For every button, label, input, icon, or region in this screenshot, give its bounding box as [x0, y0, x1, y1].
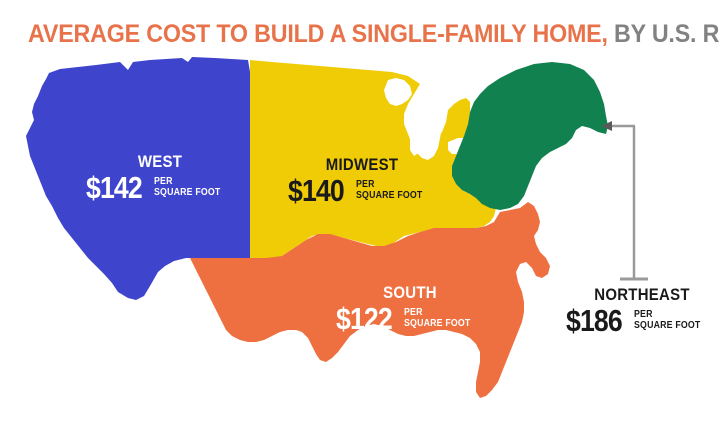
- region-value-row-northeast: $186 PER SQUARE FOOT: [566, 306, 718, 336]
- region-name-midwest: MIDWEST: [297, 155, 427, 175]
- map-region-northeast[interactable]: [452, 62, 608, 210]
- unit-line-2: SQUARE FOOT: [154, 187, 220, 198]
- region-label-northeast: NORTHEAST $186 PER SQUARE FOOT: [566, 285, 718, 336]
- infographic-canvas: AVERAGE COST TO BUILD A SINGLE-FAMILY HO…: [0, 0, 720, 439]
- region-name-northeast: NORTHEAST: [575, 285, 709, 305]
- region-label-midwest: MIDWEST $140 PER SQUARE FOOT: [288, 155, 436, 206]
- region-label-south: SOUTH $122 PER SQUARE FOOT: [336, 283, 484, 334]
- region-price-west: $142: [86, 173, 142, 203]
- region-unit-midwest: PER SQUARE FOOT: [356, 180, 422, 201]
- region-unit-west: PER SQUARE FOOT: [154, 177, 220, 198]
- region-value-row-west: $142 PER SQUARE FOOT: [86, 173, 234, 203]
- region-price-south: $122: [336, 304, 392, 334]
- unit-line-1: PER: [404, 307, 423, 318]
- unit-line-1: PER: [356, 179, 375, 190]
- region-name-west: WEST: [95, 152, 225, 172]
- unit-line-2: SQUARE FOOT: [404, 318, 470, 329]
- unit-line-1: PER: [634, 309, 653, 320]
- us-region-map: [0, 0, 720, 439]
- unit-line-2: SQUARE FOOT: [356, 190, 422, 201]
- region-unit-south: PER SQUARE FOOT: [404, 308, 470, 329]
- lake-michigan-cutout: [410, 104, 426, 156]
- region-name-south: SOUTH: [345, 283, 475, 303]
- region-price-midwest: $140: [288, 176, 344, 206]
- region-unit-northeast: PER SQUARE FOOT: [634, 310, 700, 331]
- region-label-west: WEST $142 PER SQUARE FOOT: [86, 152, 234, 203]
- region-value-row-south: $122 PER SQUARE FOOT: [336, 304, 484, 334]
- unit-line-2: SQUARE FOOT: [634, 320, 700, 331]
- region-price-northeast: $186: [566, 306, 622, 336]
- unit-line-1: PER: [154, 176, 173, 187]
- northeast-callout-line: [601, 121, 648, 279]
- region-value-row-midwest: $140 PER SQUARE FOOT: [288, 176, 436, 206]
